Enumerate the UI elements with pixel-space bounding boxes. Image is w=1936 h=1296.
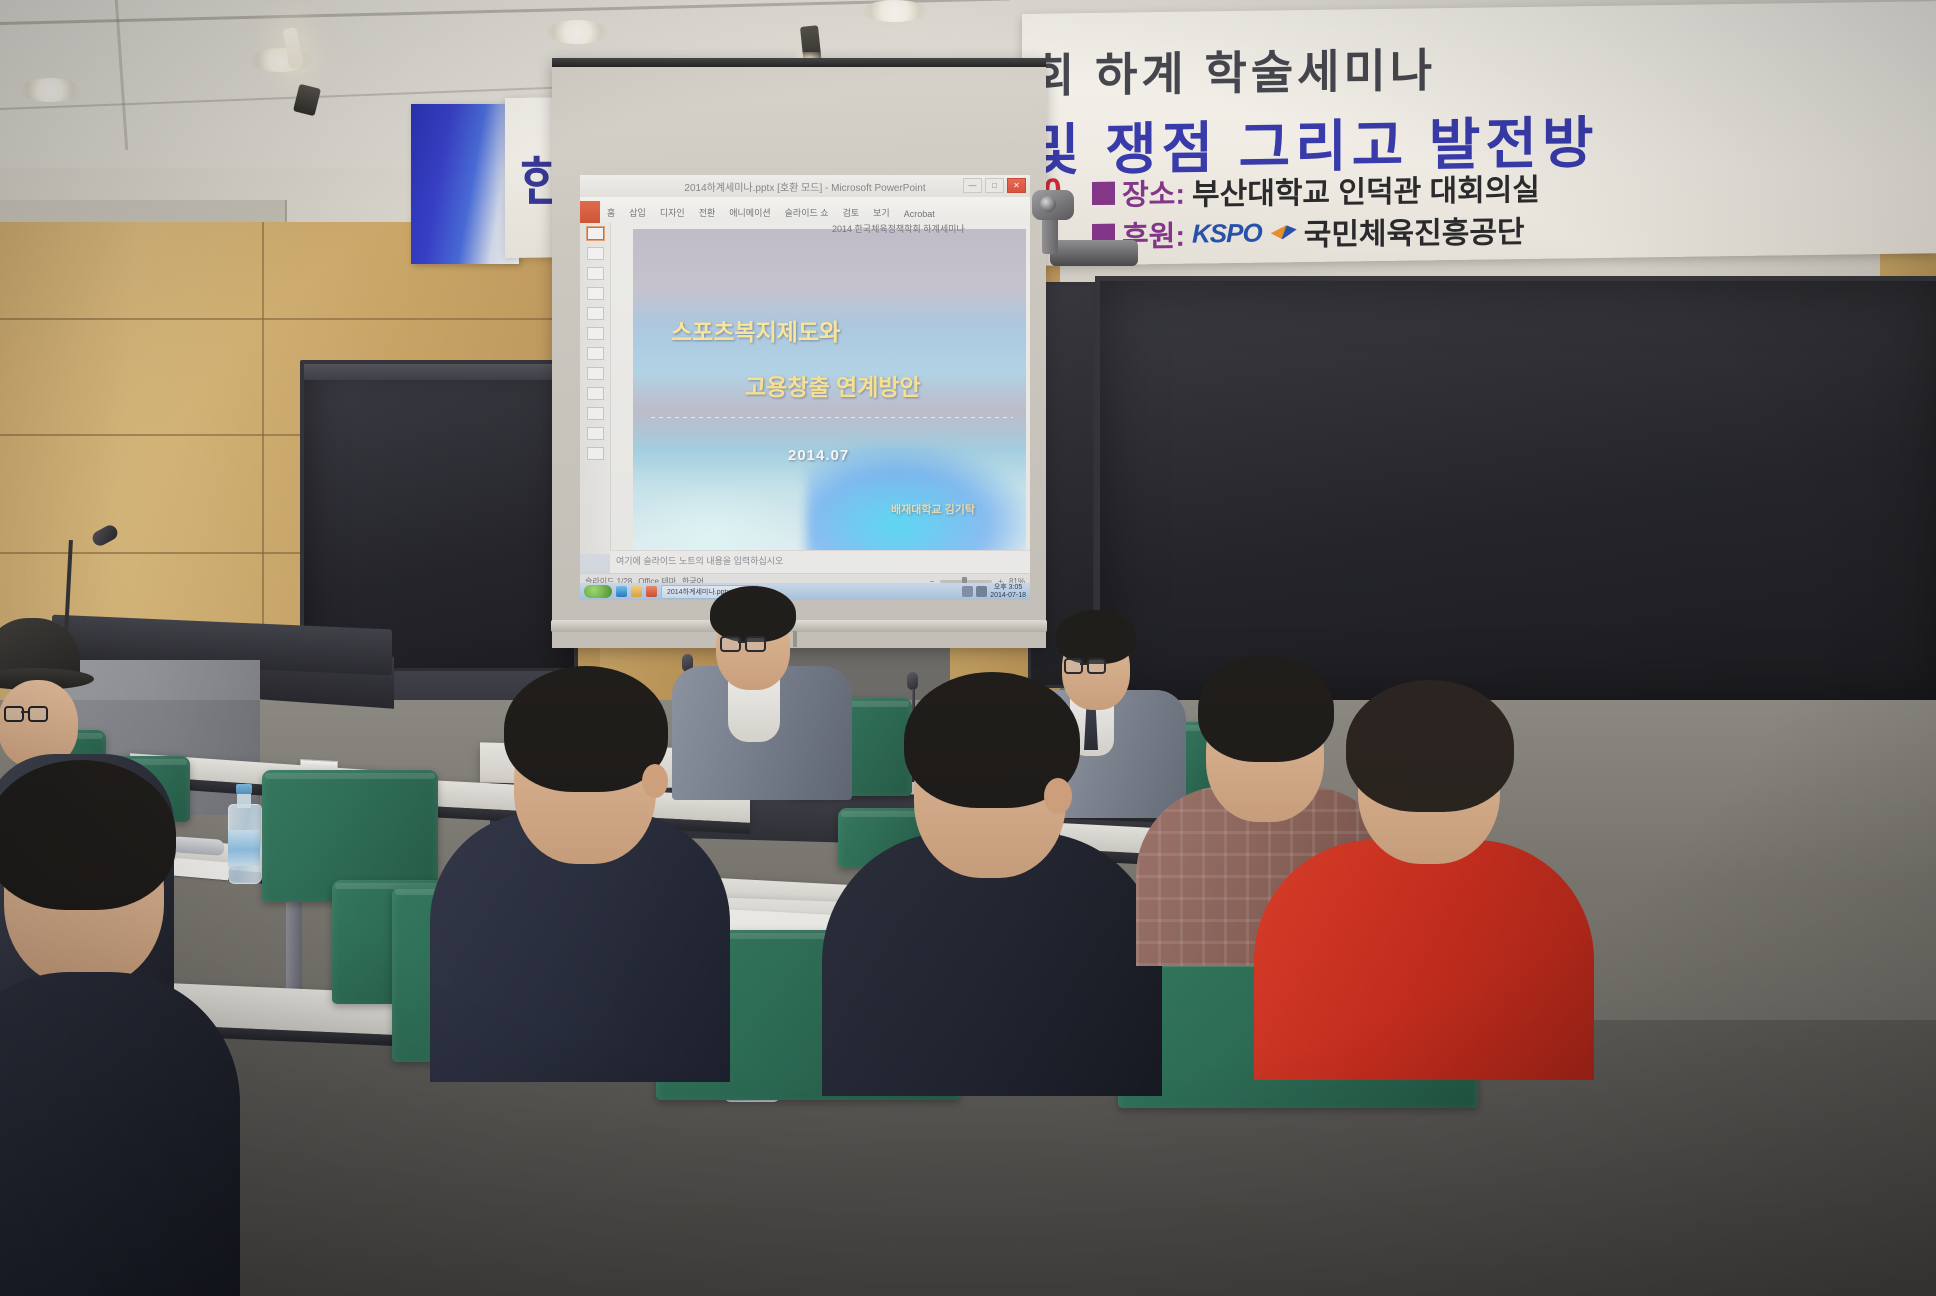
wall-display-board-right bbox=[1095, 276, 1936, 706]
presenter-glasses-icon bbox=[720, 636, 788, 650]
media-player-icon[interactable] bbox=[646, 586, 657, 597]
slide-title-line-2: 고용창출 연계방안 bbox=[745, 368, 921, 402]
bullet-square-icon bbox=[1092, 181, 1115, 204]
slide-author: 배재대학교 김기탁 bbox=[891, 501, 975, 517]
banner-title-line-1: 회 하계 학술세미나 bbox=[1032, 34, 1436, 106]
network-icon[interactable] bbox=[962, 586, 973, 597]
tab-insert[interactable]: 삽입 bbox=[622, 206, 653, 223]
powerpoint-workspace: 스포츠복지제도와 고용창출 연계방안 2014.07 배재대학교 김기탁 bbox=[580, 223, 1030, 554]
audience-hair bbox=[1346, 680, 1514, 812]
slide-thumbnail[interactable] bbox=[587, 287, 604, 300]
current-slide: 스포츠복지제도와 고용창출 연계방안 2014.07 배재대학교 김기탁 bbox=[633, 229, 1026, 554]
kspo-logo-text: KSPO bbox=[1192, 217, 1262, 249]
file-tab[interactable] bbox=[580, 201, 600, 223]
ceiling-downlight bbox=[250, 48, 312, 72]
slide-thumbnail[interactable] bbox=[587, 407, 604, 420]
camera-lens-icon bbox=[1040, 196, 1056, 212]
slide-thumbnail-pane[interactable] bbox=[580, 223, 611, 554]
audience-glasses-icon bbox=[4, 706, 66, 720]
tab-review[interactable]: 검토 bbox=[836, 206, 867, 223]
wood-seam bbox=[0, 318, 600, 320]
wave-graphic-banner bbox=[411, 104, 519, 264]
audience-red-jacket bbox=[1254, 840, 1594, 1080]
powerpoint-title-bar: 2014하계세미나.pptx [호환 모드] - Microsoft Power… bbox=[580, 175, 1030, 197]
minimize-icon[interactable]: — bbox=[963, 178, 982, 193]
banner-venue-key: 장소: bbox=[1122, 171, 1185, 214]
clock-time: 오후 3:05 bbox=[990, 584, 1026, 591]
tab-acrobat[interactable]: Acrobat bbox=[897, 209, 942, 223]
slide-thumbnail[interactable] bbox=[587, 267, 604, 280]
seminar-room-photo: 한 회 하계 학술세미나 및 쟁점 그리고 발전방 00 장소: 부산대학교 인… bbox=[0, 0, 1936, 1296]
window-controls: — □ ✕ bbox=[963, 178, 1026, 193]
person-audience-foreground-left bbox=[0, 760, 240, 1296]
slide-thumbnail[interactable] bbox=[587, 427, 604, 440]
audience-torso bbox=[0, 972, 240, 1296]
camera-mount-base bbox=[1050, 240, 1138, 266]
tab-transitions[interactable]: 전환 bbox=[692, 206, 723, 223]
audience-ear bbox=[1044, 778, 1072, 814]
slide-thumbnail[interactable] bbox=[587, 447, 604, 460]
ie-icon[interactable] bbox=[616, 586, 627, 597]
banner-venue-value: 부산대학교 인덕관 대회의실 bbox=[1192, 165, 1540, 214]
system-tray: 오후 3:05 2014-07-18 bbox=[962, 584, 1026, 599]
tab-home[interactable]: 홈 bbox=[600, 206, 622, 223]
slide-date: 2014.07 bbox=[788, 447, 849, 464]
slide-stage: 스포츠복지제도와 고용창출 연계방안 2014.07 배재대학교 김기탁 bbox=[611, 223, 1030, 554]
powerpoint-ribbon: 홈 삽입 디자인 전환 애니메이션 슬라이드 쇼 검토 보기 Acrobat bbox=[580, 197, 1030, 224]
folder-icon[interactable] bbox=[631, 586, 642, 597]
panelist-glasses-icon bbox=[1064, 658, 1128, 672]
tab-design[interactable]: 디자인 bbox=[653, 206, 692, 223]
audience-ear bbox=[642, 764, 668, 798]
tab-slideshow[interactable]: 슬라이드 쇼 bbox=[778, 206, 836, 223]
clock-date: 2014-07-18 bbox=[990, 592, 1026, 599]
volume-icon[interactable] bbox=[976, 586, 987, 597]
panelist-hair bbox=[1056, 610, 1136, 664]
presenter-hair bbox=[710, 586, 796, 642]
windows-start-icon[interactable] bbox=[584, 585, 612, 598]
main-event-banner: 회 하계 학술세미나 및 쟁점 그리고 발전방 00 장소: 부산대학교 인덕관… bbox=[1022, 1, 1936, 266]
slide-background-glow bbox=[633, 484, 813, 554]
ceiling-downlight bbox=[20, 78, 80, 102]
banner-sponsor-row: 후원: KSPO 국민체육진흥공단 bbox=[1092, 207, 1525, 257]
slide-thumbnail[interactable] bbox=[587, 327, 604, 340]
banner-sponsor-value: 국민체육진흥공단 bbox=[1304, 207, 1525, 254]
kspo-logo-icon bbox=[1271, 225, 1297, 239]
powerpoint-title-text: 2014하계세미나.pptx [호환 모드] - Microsoft Power… bbox=[684, 179, 925, 194]
tab-view[interactable]: 보기 bbox=[866, 206, 897, 223]
slide-thumbnail[interactable] bbox=[587, 247, 604, 260]
audience-hair bbox=[0, 760, 176, 910]
slide-thumbnail[interactable] bbox=[587, 387, 604, 400]
person-audience-center-right bbox=[822, 672, 1162, 1096]
board-top-strip bbox=[304, 364, 566, 380]
tab-animations[interactable]: 애니메이션 bbox=[722, 206, 777, 223]
maximize-icon[interactable]: □ bbox=[985, 178, 1004, 193]
slide-header-text: 2014 한국체육정책학회 하계세미나 bbox=[832, 222, 965, 235]
slide-title-line-1: 스포츠복지제도와 bbox=[671, 313, 840, 347]
ceiling-downlight bbox=[546, 20, 608, 44]
close-icon[interactable]: ✕ bbox=[1007, 178, 1026, 193]
slide-thumbnail[interactable] bbox=[587, 367, 604, 380]
projected-desktop: 2014하계세미나.pptx [호환 모드] - Microsoft Power… bbox=[580, 175, 1030, 600]
slide-thumbnail[interactable] bbox=[587, 347, 604, 360]
slide-thumbnail[interactable] bbox=[587, 307, 604, 320]
slide-divider bbox=[651, 417, 1013, 418]
ceiling-downlight bbox=[862, 0, 928, 22]
slide-notes-placeholder[interactable]: 여기에 슬라이드 노트의 내용을 입력하십시오 bbox=[610, 550, 1030, 574]
person-audience-red bbox=[1254, 680, 1594, 1080]
slide-thumbnail[interactable] bbox=[587, 227, 604, 240]
taskbar-clock[interactable]: 오후 3:05 2014-07-18 bbox=[990, 584, 1026, 599]
person-audience-center-left bbox=[430, 662, 730, 1082]
screen-roller bbox=[552, 58, 1046, 67]
